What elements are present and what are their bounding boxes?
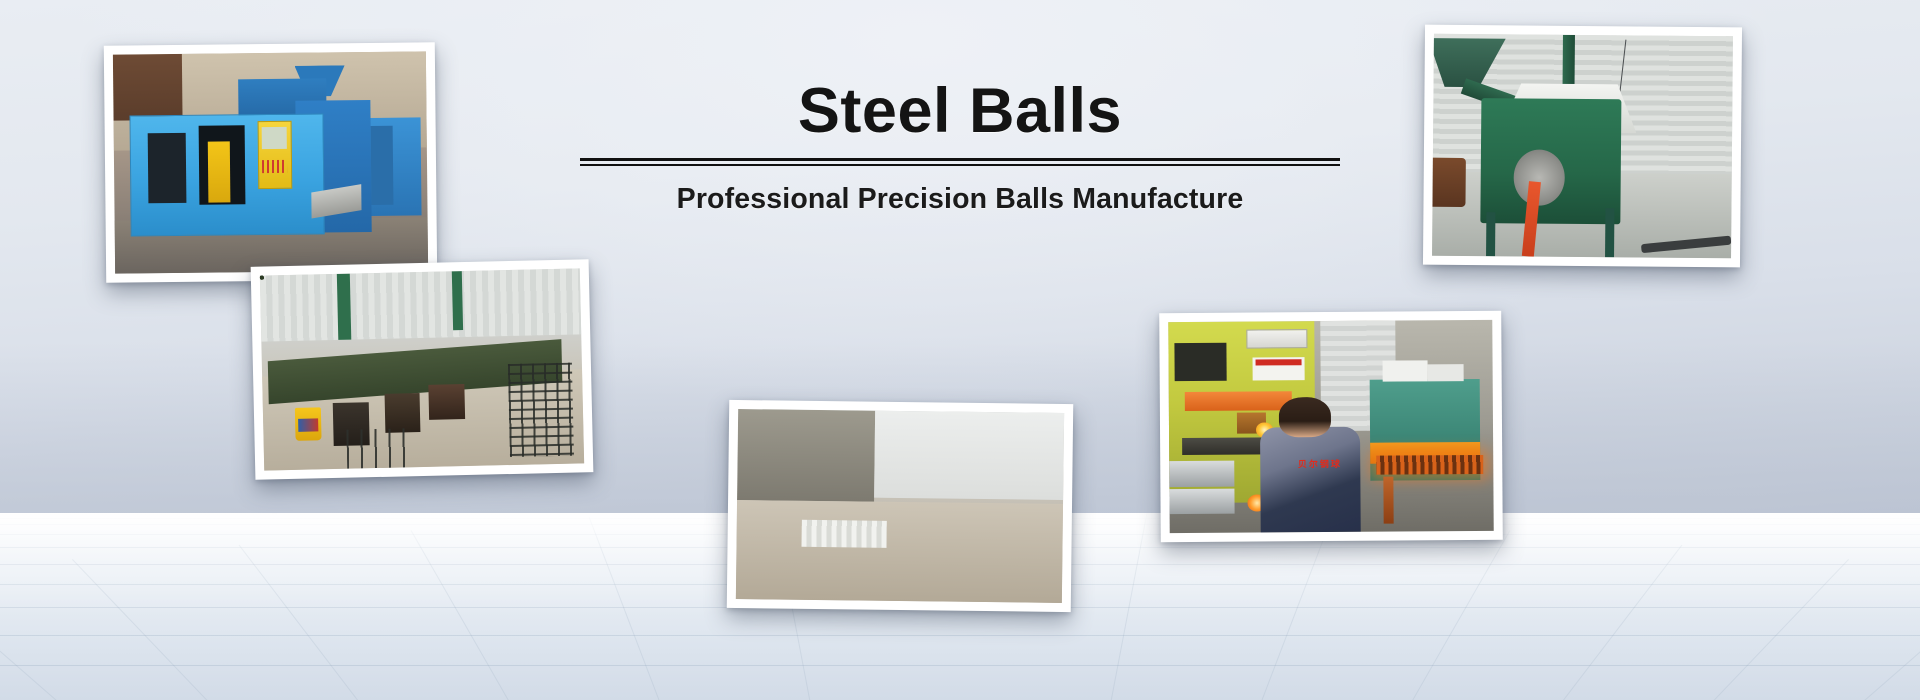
photo-tumbling-drum[interactable]: Green rotary tumbling drum with red disc… [1423,25,1742,268]
photo-blow-molding-machine[interactable]: Blue blow molding machine with yellow co… [104,42,437,282]
photo-image-tumbling-drum [1432,34,1733,259]
photo-caption: Green rotary tumbling drum with red disc… [1432,256,1433,257]
floor-grid-line-vertical [0,572,61,700]
floor-grid-line-vertical [1560,545,1682,700]
photo-caption: Worker operating forging press with indu… [1170,533,1171,534]
photo-heading-machine-line[interactable]: Row of green ball heading machines with … [251,259,594,480]
floor-grid-line-vertical [1260,517,1332,700]
page-title: Steel Balls [580,78,1340,144]
floor-grid-line-vertical [1860,572,1920,700]
hero-banner: Blue blow molding machine with yellow co… [0,0,1920,700]
uniform-text: 贝尔钢球 [1286,460,1354,482]
page-subtitle: Professional Precision Balls Manufacture [580,183,1340,216]
floor-grid-line-horizontal [0,635,1920,636]
photo-forging-press-operator[interactable]: 贝尔钢球 Worker operating forging press with… [1159,311,1503,542]
floor-grid-line-vertical [1410,530,1510,700]
photo-caption: Blue ball lapping machines with orange c… [736,599,737,600]
floor-grid-line-vertical [411,530,511,700]
banner-title-block: Steel Balls Professional Precision Balls… [580,78,1340,216]
photo-image-heading-machine-line [260,268,584,470]
photo-image-lapping-machines [736,409,1064,603]
photo-image-forging-press-operator: 贝尔钢球 [1168,320,1493,533]
photo-caption: Blue blow molding machine with yellow co… [115,274,116,275]
floor-grid-line-horizontal [0,665,1920,666]
floor-grid-line-vertical [589,517,661,700]
floor-grid-line-vertical [72,559,211,700]
floor-grid-line-vertical [1710,559,1849,700]
title-divider [580,158,1340,166]
photo-image-blow-molding-machine [113,51,428,273]
photo-lapping-machines[interactable]: Blue ball lapping machines with orange c… [727,400,1074,612]
flywheel [260,276,264,280]
floor-grid-line-vertical [239,545,361,700]
photo-caption: Row of green ball heading machines with … [264,471,265,472]
